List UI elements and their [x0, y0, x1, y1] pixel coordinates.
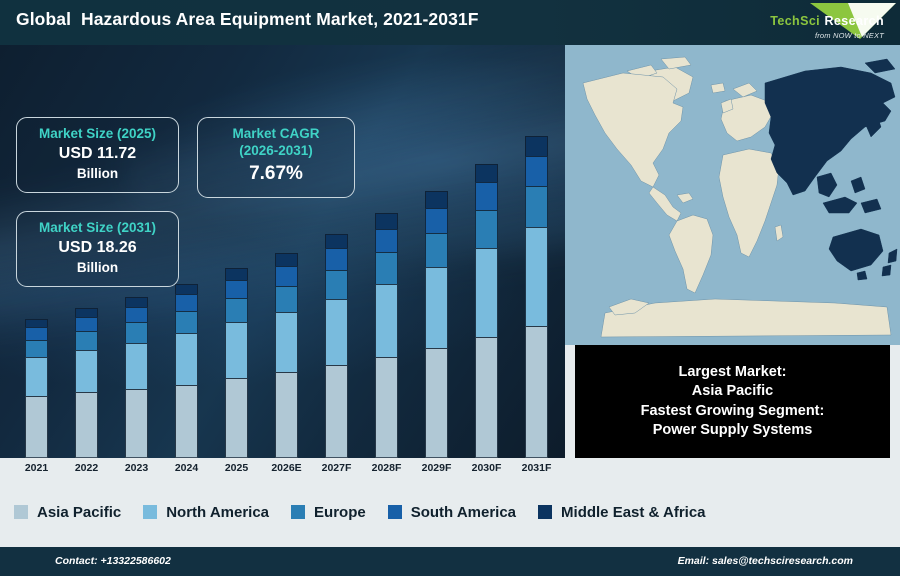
bar-segment-south-america: [275, 266, 298, 286]
x-axis-tick-2031F: 2031F: [514, 462, 560, 474]
bar-segment-europe: [525, 186, 548, 227]
x-axis-tick-2024: 2024: [164, 462, 210, 474]
bar-segment-europe: [425, 233, 448, 267]
x-axis-tick-2027F: 2027F: [314, 462, 360, 474]
footer-bar: Contact: +13322586602 Email: sales@techs…: [0, 547, 900, 576]
card-market-cagr: Market CAGR (2026-2031) 7.67%: [197, 117, 355, 198]
bar-segment-europe: [175, 311, 198, 333]
legend-label: Europe: [314, 504, 366, 521]
bar-segment-asia-pacific: [75, 392, 98, 458]
bar-2023[interactable]: [125, 297, 148, 458]
bar-segment-asia-pacific: [225, 378, 248, 458]
bar-segment-asia-pacific: [325, 365, 348, 458]
card-value: 7.67%: [208, 160, 344, 189]
card-unit: Billion: [27, 165, 168, 183]
bar-segment-europe: [25, 340, 48, 357]
bar-segment-north-america: [325, 299, 348, 366]
bar-2025[interactable]: [225, 268, 248, 458]
chart-legend: Asia PacificNorth AmericaEuropeSouth Ame…: [0, 490, 900, 534]
card-value: USD 11.72: [27, 142, 168, 165]
contact-email[interactable]: Email: sales@techsciresearch.com: [678, 555, 853, 567]
world-map: [565, 45, 900, 345]
chart-panel: Market Size (2025) USD 11.72 Billion Mar…: [0, 45, 565, 458]
bar-segment-north-america: [375, 284, 398, 358]
bar-segment-north-america: [125, 343, 148, 389]
fastest-segment-label: Fastest Growing Segment:: [641, 402, 825, 421]
bar-segment-south-america: [125, 307, 148, 323]
infographic-root: Global Hazardous Area Equipment Market, …: [0, 0, 900, 576]
card-label: Market Size (2031): [27, 219, 168, 236]
x-axis-tick-2026E: 2026E: [264, 462, 310, 474]
bar-segment-asia-pacific: [525, 326, 548, 458]
bar-segment-middle-east-africa: [475, 164, 498, 182]
bar-segment-europe: [275, 286, 298, 312]
bar-segment-north-america: [525, 227, 548, 326]
bar-segment-europe: [75, 331, 98, 349]
bar-segment-middle-east-africa: [75, 308, 98, 317]
bar-segment-north-america: [275, 312, 298, 372]
x-axis-tick-2023: 2023: [114, 462, 160, 474]
world-map-svg: [565, 45, 900, 345]
legend-swatch-icon: [388, 505, 402, 519]
legend-item-asia-pacific[interactable]: Asia Pacific: [14, 504, 121, 521]
legend-swatch-icon: [143, 505, 157, 519]
bar-segment-middle-east-africa: [125, 297, 148, 307]
legend-item-middle-east-africa[interactable]: Middle East & Africa: [538, 504, 705, 521]
bar-segment-south-america: [75, 317, 98, 331]
bar-segment-europe: [225, 298, 248, 323]
bar-2026E[interactable]: [275, 253, 298, 458]
bar-2022[interactable]: [75, 308, 98, 458]
card-value: USD 18.26: [27, 236, 168, 259]
bar-segment-europe: [475, 210, 498, 248]
key-findings-box: Largest Market: Asia Pacific Fastest Gro…: [575, 345, 890, 458]
bar-segment-north-america: [175, 333, 198, 385]
bar-segment-europe: [375, 252, 398, 284]
legend-label: Asia Pacific: [37, 504, 121, 521]
bar-segment-middle-east-africa: [325, 234, 348, 248]
legend-swatch-icon: [538, 505, 552, 519]
legend-swatch-icon: [14, 505, 28, 519]
bar-segment-south-america: [475, 182, 498, 210]
card-label: Market CAGR: [208, 125, 344, 142]
largest-market-label: Largest Market:: [679, 363, 787, 382]
bar-segment-asia-pacific: [175, 385, 198, 459]
logo-text-techsci: TechSci: [770, 14, 820, 28]
bar-segment-south-america: [425, 208, 448, 233]
x-axis-tick-2029F: 2029F: [414, 462, 460, 474]
logo-tagline: from NOW to NEXT: [770, 31, 884, 40]
legend-swatch-icon: [291, 505, 305, 519]
card-market-size-2031: Market Size (2031) USD 18.26 Billion: [16, 211, 179, 287]
logo-text-research: Research: [825, 14, 885, 28]
bar-segment-middle-east-africa: [425, 191, 448, 208]
legend-item-south-america[interactable]: South America: [388, 504, 516, 521]
card-label-period: (2026-2031): [208, 142, 344, 159]
x-axis-tick-2022: 2022: [64, 462, 110, 474]
x-axis-tick-2021: 2021: [14, 462, 60, 474]
bar-2031F[interactable]: [525, 136, 548, 458]
bar-segment-asia-pacific: [375, 357, 398, 458]
bar-segment-north-america: [225, 322, 248, 378]
x-axis-labels: 202120222023202420252026E2027F2028F2029F…: [0, 458, 565, 490]
bar-segment-asia-pacific: [125, 389, 148, 458]
legend-label: North America: [166, 504, 269, 521]
x-axis-tick-2030F: 2030F: [464, 462, 510, 474]
bar-segment-south-america: [225, 280, 248, 298]
bar-segment-middle-east-africa: [225, 268, 248, 280]
bar-segment-north-america: [75, 350, 98, 393]
x-axis-tick-2028F: 2028F: [364, 462, 410, 474]
legend-item-north-america[interactable]: North America: [143, 504, 269, 521]
bar-segment-south-america: [25, 327, 48, 340]
contact-phone[interactable]: Contact: +13322586602: [55, 555, 171, 567]
bar-2021[interactable]: [25, 319, 48, 458]
fastest-segment-value: Power Supply Systems: [653, 421, 813, 440]
bar-2024[interactable]: [175, 284, 198, 458]
bar-segment-middle-east-africa: [375, 213, 398, 228]
card-market-size-2025: Market Size (2025) USD 11.72 Billion: [16, 117, 179, 193]
bar-2030F[interactable]: [475, 164, 498, 458]
bar-segment-asia-pacific: [425, 348, 448, 458]
bar-segment-south-america: [375, 229, 398, 253]
legend-label: Middle East & Africa: [561, 504, 705, 521]
bar-segment-middle-east-africa: [525, 136, 548, 156]
bar-segment-north-america: [475, 248, 498, 337]
bar-segment-asia-pacific: [25, 396, 48, 458]
legend-item-europe[interactable]: Europe: [291, 504, 366, 521]
card-label: Market Size (2025): [27, 125, 168, 142]
page-title: Global Hazardous Area Equipment Market, …: [16, 9, 479, 30]
bar-segment-north-america: [425, 267, 448, 348]
card-unit: Billion: [27, 259, 168, 277]
techsci-logo[interactable]: TechSci Research from NOW to NEXT: [710, 0, 900, 45]
bar-segment-asia-pacific: [475, 337, 498, 458]
bar-2028F[interactable]: [375, 213, 398, 458]
header-bar: Global Hazardous Area Equipment Market, …: [0, 0, 900, 45]
x-axis-tick-2025: 2025: [214, 462, 260, 474]
bar-segment-middle-east-africa: [25, 319, 48, 327]
bar-segment-south-america: [175, 294, 198, 311]
bar-segment-middle-east-africa: [275, 253, 298, 266]
bar-2029F[interactable]: [425, 191, 448, 458]
bar-segment-asia-pacific: [275, 372, 298, 458]
bar-segment-europe: [125, 322, 148, 342]
bar-segment-south-america: [325, 248, 348, 270]
largest-market-value: Asia Pacific: [692, 382, 773, 401]
bar-2027F[interactable]: [325, 234, 348, 458]
bar-segment-north-america: [25, 357, 48, 396]
logo-wordmark: TechSci Research from NOW to NEXT: [770, 12, 884, 40]
legend-label: South America: [411, 504, 516, 521]
bar-segment-south-america: [525, 156, 548, 186]
bar-segment-europe: [325, 270, 348, 299]
bar-segment-middle-east-africa: [175, 284, 198, 295]
